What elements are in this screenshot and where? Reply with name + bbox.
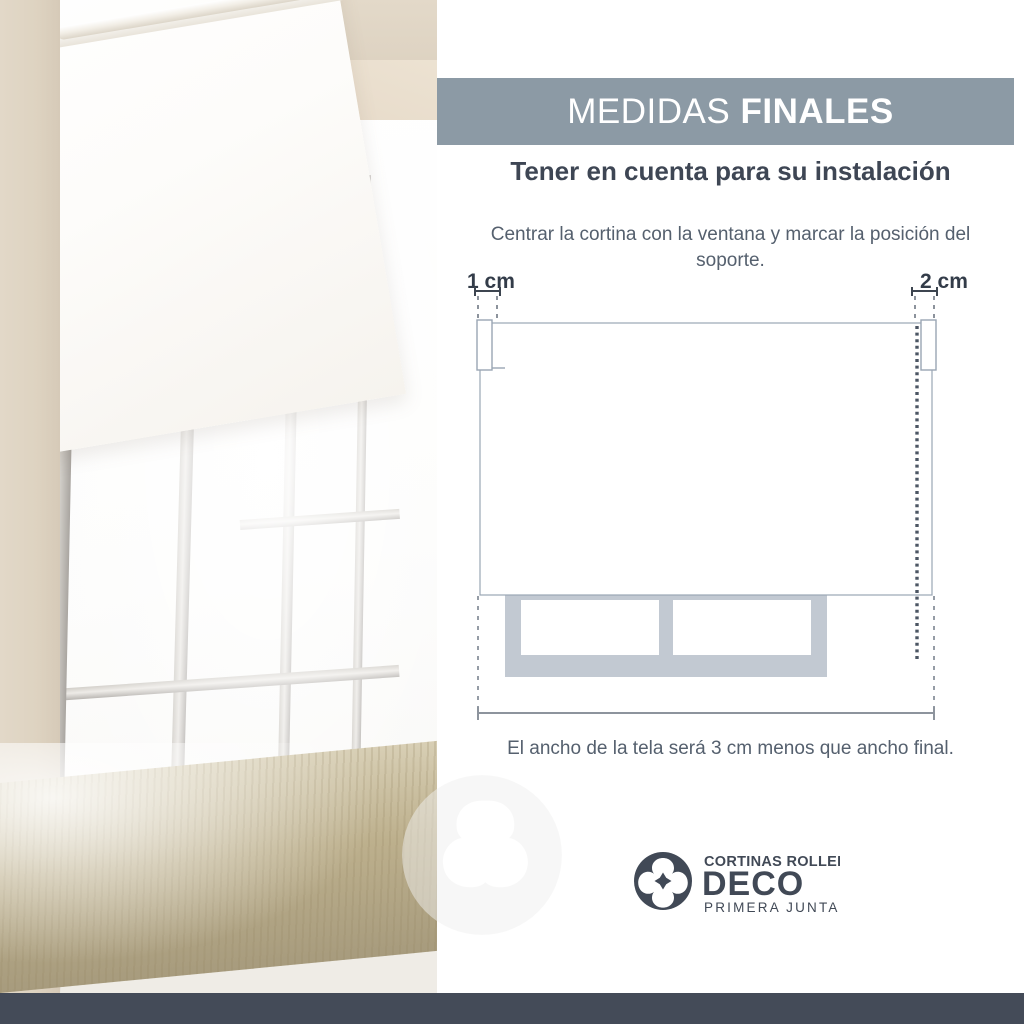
blind-fabric	[480, 323, 932, 595]
info-panel: MEDIDAS FINALES Tener en cuenta para su …	[437, 0, 1024, 993]
logo-brand-text: DECO	[702, 865, 804, 903]
logo-flower-mark-icon	[634, 852, 692, 910]
bracket-right-guides	[915, 296, 934, 320]
brand-logo-svg: CORTINAS ROLLER DECO PRIMERA JUNTA	[630, 845, 840, 917]
photo-floor-highlight	[0, 743, 437, 993]
logo-bottom-text: PRIMERA JUNTA	[704, 900, 840, 915]
caption-bottom: El ancho de la tela será 3 cm menos que …	[447, 738, 1014, 760]
width-extension-lines	[478, 596, 934, 712]
measure-bracket-right-icon	[912, 287, 937, 296]
product-photo	[0, 0, 437, 993]
measure-bracket-left-icon	[475, 287, 500, 296]
bottom-bar	[0, 993, 1024, 1024]
infographic-canvas: MEDIDAS FINALES Tener en cuenta para su …	[0, 0, 1024, 1024]
final-width-dimension-line	[478, 707, 934, 720]
right-margin	[1014, 0, 1024, 993]
installation-diagram	[437, 0, 1024, 760]
window-frame	[505, 592, 827, 677]
photo-roller-fabric	[0, 0, 406, 460]
bracket-right	[921, 320, 936, 370]
brand-logo: CORTINAS ROLLER DECO PRIMERA JUNTA	[630, 845, 840, 917]
watermark-logo-icon	[397, 770, 567, 940]
bracket-left-guides	[478, 296, 497, 320]
